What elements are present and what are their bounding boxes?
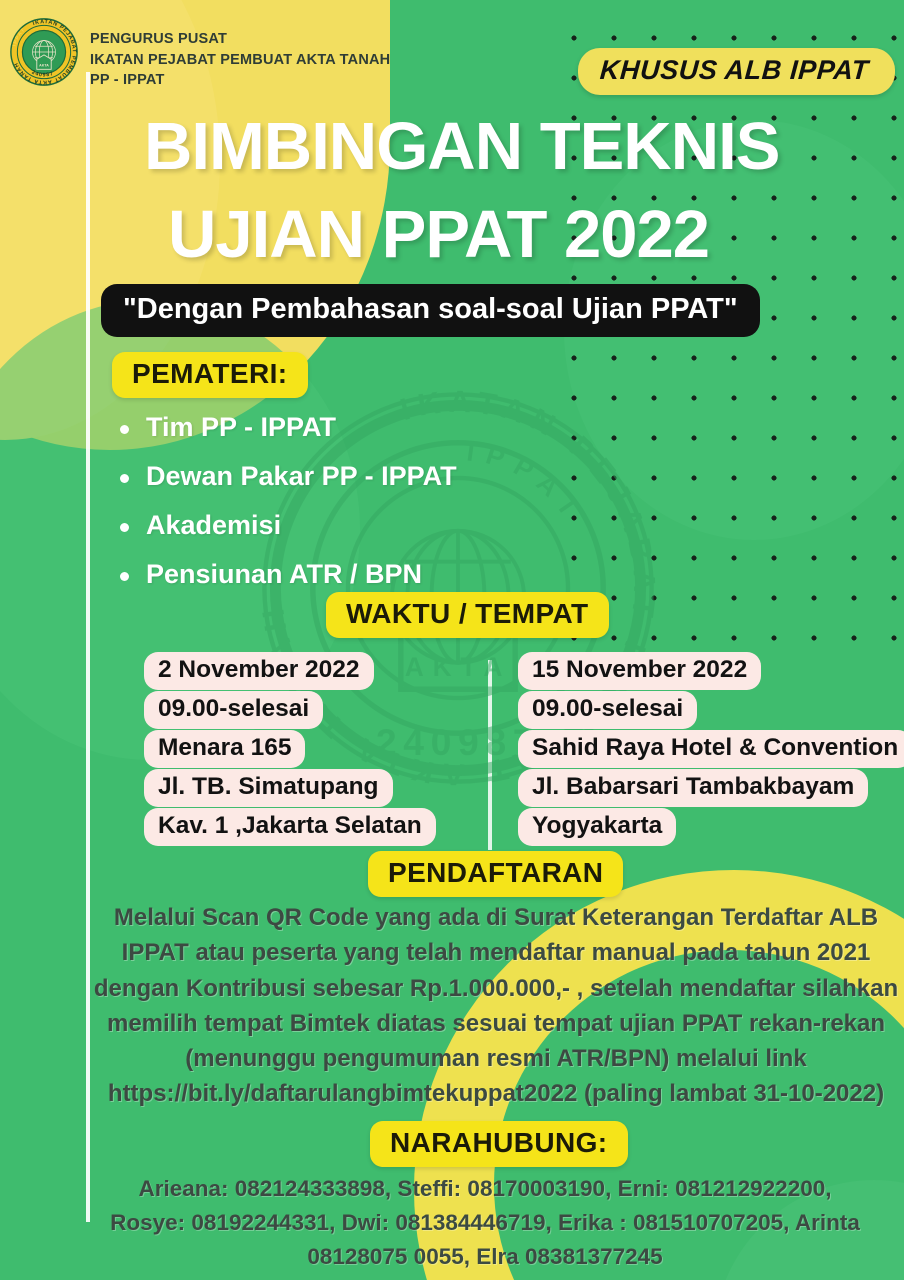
speakers-heading-label: PEMATERI:: [132, 358, 288, 390]
registration-line: Melalui Scan QR Code yang ada di Surat K…: [92, 900, 900, 935]
registration-line: (menunggu pengumuman resmi ATR/BPN) mela…: [92, 1041, 900, 1076]
venue-line: 09.00-selesai: [518, 691, 697, 729]
venue-line-text: Jl. Babarsari Tambakbayam: [532, 773, 854, 800]
org-line-3: PP - IPPAT: [90, 70, 390, 91]
organization-name-block: PENGURUS PUSAT IKATAN PEJABAT PEMBUAT AK…: [90, 16, 390, 91]
venue-line: Kav. 1 ,Jakarta Selatan: [144, 808, 436, 846]
poster-subtitle-bar: "Dengan Pembahasan soal-soal Ujian PPAT": [101, 284, 760, 337]
registration-line: memilih tempat Bimtek diatas sesuai temp…: [92, 1006, 900, 1041]
khusus-alb-badge: KHUSUS ALB IPPAT: [578, 48, 895, 95]
venue-line-text: Yogyakarta: [532, 812, 662, 839]
venue-line: 15 November 2022: [518, 652, 761, 690]
schedule-heading-label: WAKTU / TEMPAT: [346, 598, 589, 630]
contacts-line: 08128075 0055, Elra 08381377245: [70, 1240, 900, 1274]
registration-line: dengan Kontribusi sebesar Rp.1.000.000,-…: [92, 971, 900, 1006]
svg-text:AKTA: AKTA: [39, 63, 49, 67]
venue-divider-rule: [488, 660, 492, 850]
contacts-heading-label: NARAHUBUNG:: [390, 1127, 608, 1159]
venue-line: Jl. Babarsari Tambakbayam: [518, 769, 868, 807]
registration-heading-label: PENDAFTARAN: [388, 857, 603, 889]
list-item: Dewan Pakar PP - IPPAT: [116, 461, 457, 492]
poster-canvas: IKATAN PEJABAT PEMBUAT AKTA TANAH IPPAT …: [0, 0, 904, 1280]
contacts-heading-pill: NARAHUBUNG:: [370, 1121, 628, 1167]
poster-subtitle: "Dengan Pembahasan soal-soal Ujian PPAT": [123, 293, 738, 325]
contacts-list: Arieana: 082124333898, Steffi: 081700031…: [70, 1172, 900, 1275]
poster-title-line-1: BIMBINGAN TEKNIS: [144, 108, 779, 185]
venue-column-jakarta: 2 November 2022 09.00-selesai Menara 165…: [144, 652, 436, 847]
venue-line-text: Sahid Raya Hotel & Convention: [532, 734, 898, 761]
venue-line-text: Jl. TB. Simatupang: [158, 773, 379, 800]
contacts-line: Rosye: 08192244331, Dwi: 081384446719, E…: [70, 1206, 900, 1240]
ippat-seal-logo-icon: IKATAN PEJABAT PEMBUAT AKTA TANAH IPPAT …: [8, 16, 80, 88]
left-vertical-rule: [86, 72, 90, 1222]
venue-line-text: Kav. 1 ,Jakarta Selatan: [158, 812, 422, 839]
venue-column-yogyakarta: 15 November 2022 09.00-selesai Sahid Ray…: [518, 652, 904, 847]
contacts-line: Arieana: 082124333898, Steffi: 081700031…: [70, 1172, 900, 1206]
venue-line-text: 09.00-selesai: [158, 695, 309, 722]
svg-text:IPPAT: IPPAT: [465, 437, 590, 531]
registration-line: IPPAT atau peserta yang telah mendaftar …: [92, 935, 900, 970]
venue-line: 09.00-selesai: [144, 691, 323, 729]
venue-line: 2 November 2022: [144, 652, 374, 690]
org-line-2: IKATAN PEJABAT PEMBUAT AKTA TANAH: [90, 50, 390, 71]
org-line-1: PENGURUS PUSAT: [90, 29, 390, 50]
poster-title-line-2: UJIAN PPAT 2022: [168, 196, 709, 273]
venue-line-text: Menara 165: [158, 734, 291, 761]
registration-paragraph: Melalui Scan QR Code yang ada di Surat K…: [92, 900, 900, 1112]
venue-line: Sahid Raya Hotel & Convention: [518, 730, 904, 768]
venue-line: Menara 165: [144, 730, 305, 768]
poster-header: IKATAN PEJABAT PEMBUAT AKTA TANAH IPPAT …: [8, 16, 390, 91]
registration-heading-pill: PENDAFTARAN: [368, 851, 623, 897]
speakers-list: Tim PP - IPPAT Dewan Pakar PP - IPPAT Ak…: [116, 412, 457, 608]
list-item: Pensiunan ATR / BPN: [116, 559, 457, 590]
khusus-alb-badge-label: KHUSUS ALB IPPAT: [599, 55, 870, 86]
venue-line-text: 09.00-selesai: [532, 695, 683, 722]
list-item: Akademisi: [116, 510, 457, 541]
venue-line-text: 15 November 2022: [532, 656, 747, 683]
speakers-heading-pill: PEMATERI:: [112, 352, 308, 398]
schedule-heading-pill: WAKTU / TEMPAT: [326, 592, 609, 638]
venue-line: Yogyakarta: [518, 808, 676, 846]
list-item: Tim PP - IPPAT: [116, 412, 457, 443]
venue-line-text: 2 November 2022: [158, 656, 360, 683]
registration-link-line: https://bit.ly/daftarulangbimtekuppat202…: [92, 1076, 900, 1111]
venue-line: Jl. TB. Simatupang: [144, 769, 393, 807]
